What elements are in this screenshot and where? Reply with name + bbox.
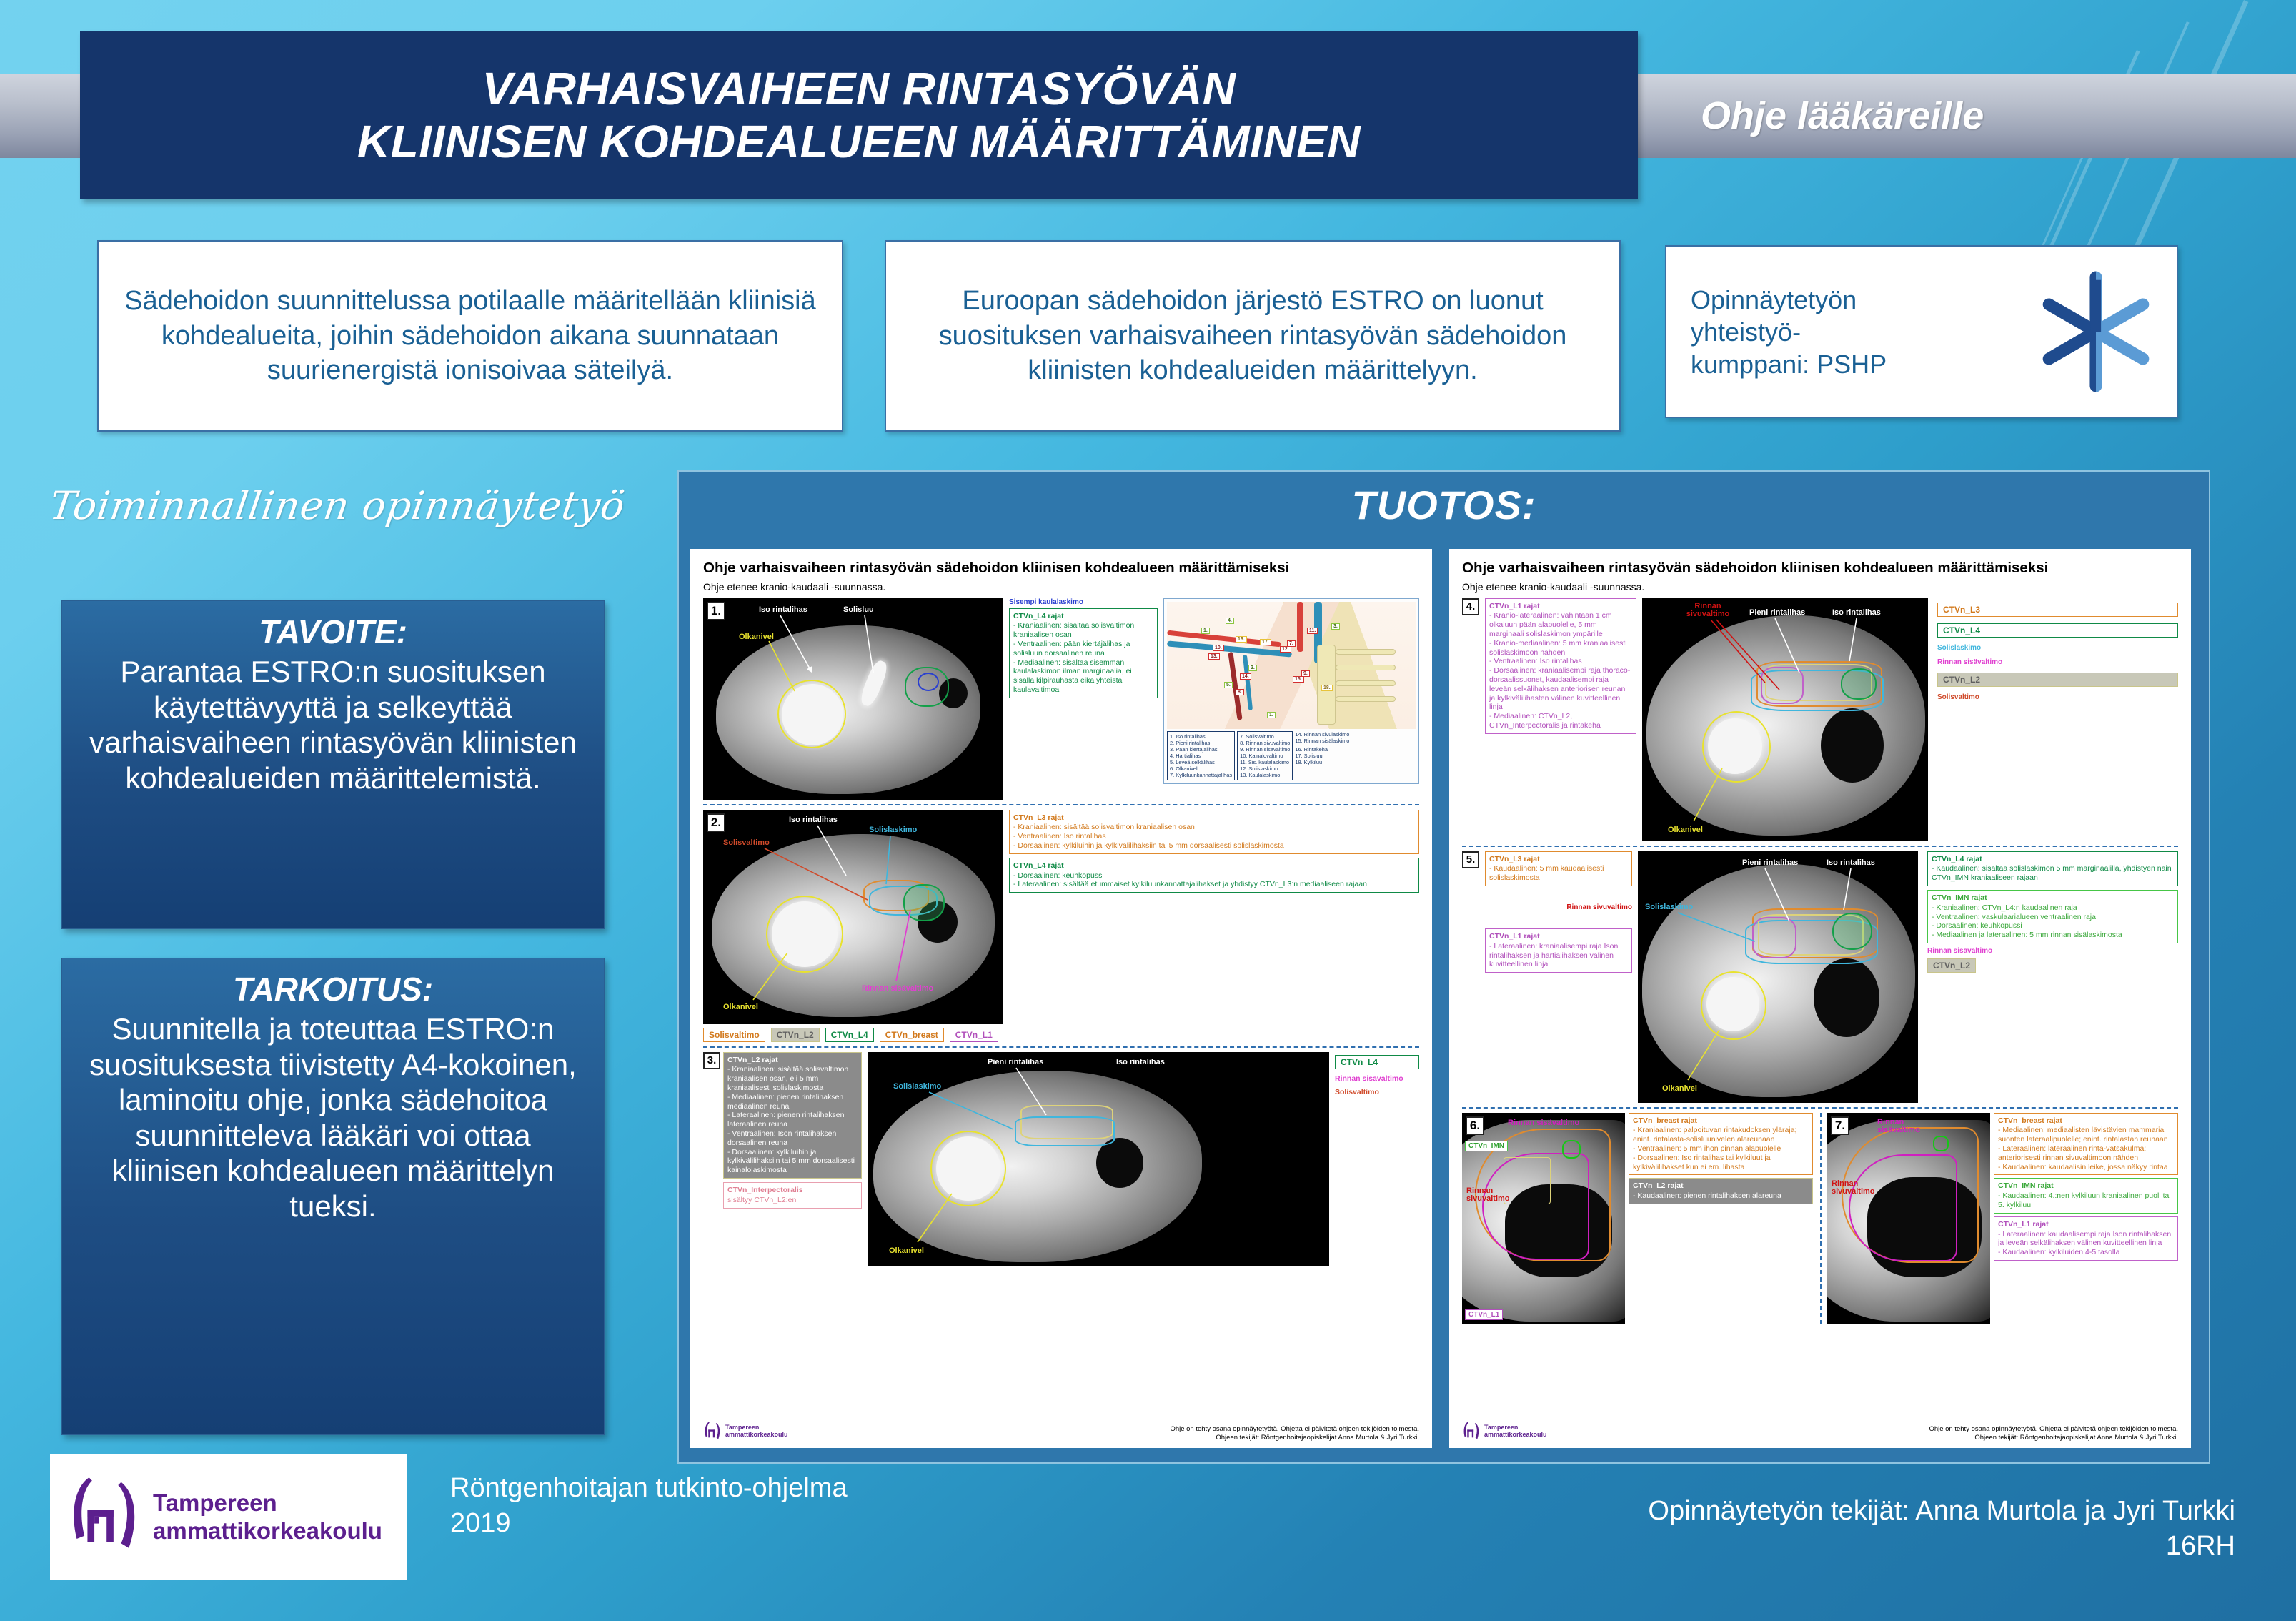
anatomy-illustration: 4. 1. 16. 17. 7. 11. 3. 10. 13. 12. 2. 1… — [1167, 602, 1416, 729]
guide-divider — [1462, 1107, 2178, 1109]
callout-title: CTVn_L1 rajat — [1998, 1220, 2174, 1229]
callout-line: - Ventraalinen: 5 mm ihon pinnan alapuol… — [1633, 1144, 1781, 1153]
callout-line: - Kraniaalinen: palpoituvan rintakudokse… — [1633, 1126, 1796, 1144]
callout-title: CTVn_breast rajat — [1633, 1116, 1809, 1126]
guide-subtitle: Ohje etenee kranio-kaudaali -suunnassa. — [1462, 581, 2178, 593]
guide-footer-line-2: Ohjeen tekijät: Röntgenhoitajaopiskelija… — [1547, 1434, 2178, 1442]
panel-number-6: 6. — [1466, 1116, 1484, 1135]
ct-label: Pieni rintalihas — [1742, 858, 1798, 867]
poster-title-line-1: VARHAISVAIHEEN RINTASYÖVÄN — [482, 63, 1236, 116]
callout-ctvn-breast: CTVn_breast rajat - Kraniaalinen: palpoi… — [1629, 1113, 1813, 1176]
guide-footer: Tampereen ammattikorkeakoulu Ohje on teh… — [703, 1421, 1419, 1442]
ct-label: Olkanivel — [889, 1246, 924, 1255]
callout-ctvn-l2: CTVn_L2 rajat - Kraniaalinen: sisältää s… — [723, 1052, 862, 1179]
callout-line: - Kranio-mediaalinen: 5 mm kraniaalisest… — [1489, 639, 1627, 657]
callout-title: CTVn_IMN rajat — [1998, 1181, 2174, 1191]
ct-label: Solislaskimo — [869, 826, 917, 834]
callout-line: - Dorsaalinen: keuhkopussi — [1932, 921, 2022, 930]
ct-label: Rinnan sivuvaltimo — [1832, 1180, 1862, 1196]
guide-page-right: Ohje varhaisvaiheen rintasyövän sädehoid… — [1449, 549, 2191, 1448]
ct-scan-panel-6: 6. Rinnan sisävaltimo Rinnan sivuvaltimo… — [1462, 1113, 1625, 1324]
panel-tarkoitus-heading: TARKOITUS: — [79, 970, 587, 1008]
legend-item: 9. Rinnan sisävaltimo — [1240, 746, 1290, 753]
callout-line: - Kaudaalinen: 5 mm kaudaalisesti solisl… — [1489, 864, 1604, 882]
legend-column-4: 16. Rintakehä 17. Solisluu 18. Kylkiluu — [1295, 746, 1349, 765]
callout-ctvn-l3: CTVn_L3 rajat - Kraniaalinen: sisältää s… — [1009, 810, 1419, 854]
tamk-word-line-1: Tampereen — [153, 1489, 382, 1517]
callout-line: - Kaudaalinen: 4.:nen kylkiluun kraniaal… — [1998, 1191, 2171, 1209]
callout-title: CTVn_breast rajat — [1998, 1116, 2174, 1126]
callout-ctvn-imn: CTVn_IMN rajat - Kraniaalinen: CTVn_L4:n… — [1927, 890, 2178, 943]
callout-line: - Ventraalinen: vaskulaarialueen ventraa… — [1932, 913, 2096, 921]
ct-label: Rinnan sisävaltimo — [862, 984, 933, 993]
tag-solisvaltimo: Solisvaltimo — [1335, 1088, 1419, 1096]
callout-line: - Lateraalinen: kraniaalisempi raja Ison… — [1489, 942, 1618, 969]
ct-scan-panel-3: Pieni rintalihas Iso rintalihas Solislas… — [868, 1052, 1329, 1266]
guide-page-left: Ohje varhaisvaiheen rintasyövän sädehoid… — [690, 549, 1432, 1448]
ct-scan-panel-5: Pieni rintalihas Iso rintalihas Solislas… — [1638, 851, 1918, 1103]
tag-ctvn-l4: CTVn_L4 — [825, 1028, 874, 1042]
legend-item: 1. Iso rintalihas — [1170, 733, 1232, 740]
callout-ctvn-l1: CTVn_L1 rajat - Lateraalinen: kraniaalis… — [1485, 928, 1632, 973]
tuotos-title: TUOTOS: — [679, 482, 2209, 528]
callout-ctvn-imn: CTVn_IMN rajat - Kaudaalinen: 4.:nen kyl… — [1994, 1178, 2178, 1213]
guide-footer-line-1: Ohje on tehty osana opinnäytetyötä. Ohje… — [1547, 1425, 2178, 1434]
legend-item: 8. Rinnan sivuvaltimo — [1240, 740, 1290, 746]
panel-tarkoitus-body: Suunnitella ja toteuttaa ESTRO:n suositu… — [79, 1011, 587, 1224]
info-box-radiotherapy: Sädehoidon suunnittelussa potilaalle mää… — [97, 240, 843, 432]
info-box-text: Euroopan sädehoidon järjestö ESTRO on lu… — [899, 284, 1606, 388]
pshp-star-of-life-logo — [2028, 264, 2164, 400]
section-title-functional-thesis: Toiminnallinen opinnäytetyö — [47, 483, 640, 528]
poster-title-line-2: KLIINISEN KOHDEALUEEN MÄÄRITTÄMINEN — [357, 116, 1361, 169]
ct-label: Iso rintalihas — [759, 605, 807, 614]
ct-label: Rinnan sisävaltimo — [1877, 1119, 1927, 1135]
footer-left: Röntgenhoitajan tutkinto-ohjelma 2019 — [450, 1471, 848, 1542]
guide-title: Ohje varhaisvaiheen rintasyövän sädehoid… — [703, 560, 1419, 577]
ct-label-solislaskimo: Solislaskimo — [1937, 644, 2178, 652]
legend-item: 6. Olkanivel — [1170, 765, 1232, 772]
callout-title: CTVn_L3 rajat — [1013, 813, 1415, 823]
callout-line: sisältyy CTVn_L2:en — [727, 1196, 796, 1204]
callout-line: - Dorsaalinen: Iso rintalihas tai kylkil… — [1633, 1154, 1771, 1171]
legend-item: 13. Kaulalaskimo — [1240, 772, 1290, 778]
panel-tavoite: TAVOITE: Parantaa ESTRO:n suosituksen kä… — [61, 600, 605, 929]
tag-ctvn-l2: CTVn_L2 — [1937, 673, 2178, 687]
guide-divider — [1462, 846, 2178, 847]
callout-ctvn-l3: CTVn_L3 rajat - Kaudaalinen: 5 mm kaudaa… — [1485, 851, 1632, 886]
legend-column-1: 1. Iso rintalihas 2. Pieni rintalihas 3.… — [1167, 731, 1235, 780]
callout-title: CTVn_L2 rajat — [1633, 1181, 1809, 1191]
tamk-mark-icon — [66, 1474, 143, 1560]
callout-line: - Kaudaalinen: kaudaalisin leike, jossa … — [1998, 1163, 2168, 1171]
callout-line: - Mediaalinen: sisältää sisemmän kaulala… — [1013, 658, 1132, 694]
legend-item: 2. Pieni rintalihas — [1170, 740, 1232, 746]
info-box-partner: Opinnäytetyönyhteistyö-kumppani: PSHP — [1665, 245, 2178, 418]
ct-label: Iso rintalihas — [1116, 1058, 1165, 1066]
callout-line: - Kraniaalinen: sisältää solisvaltimon k… — [1013, 823, 1195, 831]
callout-line: - Kaudaalinen: kylkiluiden 4-5 tasolla — [1998, 1248, 2119, 1256]
guide-divider — [703, 1046, 1419, 1048]
ct-label: Pieni rintalihas — [988, 1058, 1043, 1066]
legend-item: 16. Rintakehä — [1295, 746, 1349, 753]
callout-title: CTVn_L3 rajat — [1489, 855, 1628, 864]
callout-line: - Kranio-lateraalinen: vähintään 1 cm ol… — [1489, 611, 1612, 638]
callout-line: - Kraniaalinen: sisältää solisvaltimon k… — [727, 1065, 848, 1092]
ct-label: Solislaskimo — [1645, 903, 1693, 911]
callout-line: - Ventraalinen: Iso rintalihas — [1489, 657, 1582, 665]
callout-ctvn-breast: CTVn_breast rajat - Mediaalinen: mediaal… — [1994, 1113, 2178, 1176]
callout-line: - Ventraalinen: Iso rintalihas — [1013, 832, 1106, 841]
callout-line: - Mediaalinen: pienen rintalihaksen medi… — [727, 1093, 843, 1111]
legend-item: 11. Sis. kaulalaskimo — [1240, 759, 1290, 765]
callout-ctvn-l2: CTVn_L2 rajat - Kaudaalinen: pienen rint… — [1629, 1178, 1813, 1204]
guide-footer-text: Ohje on tehty osana opinnäytetyötä. Ohje… — [1547, 1425, 2178, 1442]
legend-item: 4. Hartialihas — [1170, 753, 1232, 759]
callout-line: - Dorsaalinen: kraniaalisempi raja thora… — [1489, 666, 1630, 711]
callout-line: - Lateraalinen: pienen rintalihaksen lat… — [727, 1111, 844, 1129]
legend-item: 5. Leveä selkälihas — [1170, 759, 1232, 765]
tag-ctvn-l1: CTVn_L1 — [950, 1028, 998, 1042]
callout-title: CTVn_Interpectoralis — [727, 1186, 858, 1195]
poster-title-block: VARHAISVAIHEEN RINTASYÖVÄN KLIINISEN KOH… — [80, 31, 1638, 199]
callout-ctvn-l1: CTVn_L1 rajat - Kranio-lateraalinen: väh… — [1485, 598, 1636, 734]
tag-ctvn-l3: CTVn_L3 — [1937, 603, 2178, 617]
partner-text: Opinnäytetyönyhteistyö-kumppani: PSHP — [1691, 284, 2028, 380]
callout-line: - Mediaalinen: CTVn_L2, CTVn_Interpector… — [1489, 712, 1601, 730]
tag-rinnan-sisavaltimo: Rinnan sisävaltimo — [1335, 1074, 1419, 1083]
callout-line: - Ventraalinen: Ison rintalihaksen dorsa… — [727, 1129, 836, 1147]
footer-year: 2019 — [450, 1506, 848, 1541]
callout-line: - Kraniaalinen: sisältää solisvaltimon k… — [1013, 621, 1134, 639]
tamk-word-line-2: ammattikorkeakoulu — [725, 1432, 788, 1439]
guide-footer: Tampereen ammattikorkeakoulu Ohje on teh… — [1462, 1421, 2178, 1442]
info-box-text: Sädehoidon suunnittelussa potilaalle mää… — [111, 284, 829, 388]
panel-number-5: 5. — [1462, 851, 1479, 868]
legend-item: 7. Kylkiluunkannattajalihas — [1170, 772, 1232, 778]
panel-tarkoitus: TARKOITUS: Suunnitella ja toteuttaa ESTR… — [61, 958, 605, 1435]
legend-item: 17. Solisluu — [1295, 753, 1349, 759]
ct-label: Olkanivel — [1668, 826, 1703, 834]
callout-line: - Kraniaalinen: CTVn_L4:n kaudaalinen ra… — [1932, 903, 2077, 912]
ct-label: Olkanivel — [723, 1003, 758, 1011]
guide-footer-line-1: Ohje on tehty osana opinnäytetyötä. Ohje… — [788, 1425, 1419, 1434]
guide-footer-line-2: Ohjeen tekijät: Röntgenhoitajaopiskelija… — [788, 1434, 1419, 1442]
callout-line: - Dorsaalinen: kylkiluihin ja kylkivälil… — [1013, 841, 1284, 850]
callout-line: - Lateraalinen: kaudaalisempi raja Ison … — [1998, 1230, 2171, 1248]
ct-scan-panel-2: 2. Iso rintalihas Solislaskimo Solisvalt… — [703, 810, 1003, 1024]
tag-solisvaltimo: Solisvaltimo — [703, 1028, 765, 1042]
callout-ctvn-l4: CTVn_L4 rajat - Kaudaalinen: sisältää so… — [1927, 851, 2178, 886]
callout-line: - Mediaalinen ja lateraalinen: 5 mm rinn… — [1932, 931, 2122, 939]
callout-line: - Lateraalinen: lateraalinen rinta-vatsa… — [1998, 1144, 2146, 1162]
callout-line: - Dorsaalinen: keuhkopussi — [1013, 871, 1104, 880]
tamk-mark-icon — [1462, 1421, 1481, 1442]
guide-title: Ohje varhaisvaiheen rintasyövän sädehoid… — [1462, 560, 2178, 577]
ct-label: Rinnan sisävaltimo — [1508, 1119, 1579, 1127]
ct-scan-panel-1: 1. Iso rintalihas Solisluu Olkanivel — [703, 598, 1003, 800]
poster-root: VARHAISVAIHEEN RINTASYÖVÄN KLIINISEN KOH… — [0, 0, 2296, 1621]
ct-label: Rinnan sivuvaltimo — [1466, 1187, 1496, 1204]
ct-label-rinnan-sisavaltimo: Rinnan sisävaltimo — [1927, 947, 2178, 955]
tamk-mark-icon — [703, 1421, 722, 1442]
guide-tamk-logo: Tampereen ammattikorkeakoulu — [1462, 1421, 1547, 1442]
callout-line: - Dorsaalinen: kylkiluihin ja kylkivälil… — [727, 1148, 855, 1175]
ct-label: Iso rintalihas — [1832, 608, 1881, 617]
callout-title: CTVn_L4 rajat — [1013, 612, 1153, 621]
ct-label-rinnan-sisavaltimo: Rinnan sisävaltimo — [1937, 658, 2178, 666]
callout-title: CTVn_L1 rajat — [1489, 932, 1628, 941]
legend-item: 12. Solislaskimo — [1240, 765, 1290, 772]
ct-label: Solislaskimo — [893, 1082, 941, 1091]
footer-group: 16RH — [1648, 1529, 2235, 1564]
legend-item: 10. Kainalovaltimo — [1240, 753, 1290, 759]
tag-ctvn-l1: CTVn_L1 — [1465, 1309, 1503, 1320]
guide-tamk-logo: Tampereen ammattikorkeakoulu — [703, 1421, 788, 1442]
callout-line: - Ventraalinen: pään kiertäjälihas ja so… — [1013, 640, 1130, 658]
callout-title: CTVn_L4 rajat — [1932, 855, 2174, 864]
panel-tavoite-heading: TAVOITE: — [79, 613, 587, 651]
ct-scan-panel-7: 7. Rinnan sisävaltimo Rinnan sivuvaltimo — [1827, 1113, 1990, 1324]
tamk-word-line-2: ammattikorkeakoulu — [153, 1517, 382, 1545]
header-subtitle: Ohje lääkäreille — [1701, 74, 2244, 158]
ct-scan-panel-4: Rinnan sivuvaltimo Pieni rintalihas Iso … — [1642, 598, 1928, 841]
callout-ctvn-l1: CTVn_L1 rajat - Lateraalinen: kaudaalise… — [1994, 1216, 2178, 1261]
tuotos-section: TUOTOS: Ohje varhaisvaiheen rintasyövän … — [677, 470, 2210, 1464]
tag-ctvn-l4: CTVn_L4 — [1937, 623, 2178, 638]
ct-label-solisvaltimo: Solisvaltimo — [1937, 693, 2178, 701]
tamk-wordmark: Tampereen ammattikorkeakoulu — [725, 1424, 788, 1439]
legend-item: 18. Kylkiluu — [1295, 759, 1349, 765]
legend-item: 14. Rinnan sivulaskimo — [1295, 731, 1349, 738]
legend-item: 3. Pään kiertäjälihas — [1170, 746, 1232, 753]
guide-footer-text: Ohje on tehty osana opinnäytetyötä. Ohje… — [788, 1425, 1419, 1442]
callout-title: CTVn_L2 rajat — [727, 1056, 858, 1065]
footer-right: Opinnäytetyön tekijät: Anna Murtola ja J… — [1648, 1494, 2235, 1565]
tamk-word-line-2: ammattikorkeakoulu — [1484, 1432, 1547, 1439]
legend-column-3: 14. Rinnan sivulaskimo 15. Rinnan sisäla… — [1295, 731, 1349, 744]
tamk-wordmark: Tampereen ammattikorkeakoulu — [1484, 1424, 1547, 1439]
legend-item: 7. Solisvaltimo — [1240, 733, 1290, 740]
tamk-wordmark: Tampereen ammattikorkeakoulu — [153, 1489, 382, 1545]
legend-column-2: 7. Solisvaltimo 8. Rinnan sivuvaltimo 9.… — [1237, 731, 1293, 780]
tag-ctvn-imn: CTVn_IMN — [1465, 1141, 1508, 1151]
ct-label: Iso rintalihas — [789, 816, 838, 824]
callout-ctvn-l4: CTVn_L4 rajat - Dorsaalinen: keuhkopussi… — [1009, 858, 1419, 893]
ct-label-rinnan-sivuvaltimo: Rinnan sivuvaltimo — [1485, 903, 1632, 911]
callout-line: - Lateraalinen: sisältää etummaiset kylk… — [1013, 880, 1367, 888]
anatomy-legend: 1. Iso rintalihas 2. Pieni rintalihas 3.… — [1167, 731, 1416, 780]
panel-number-7: 7. — [1831, 1116, 1849, 1135]
guide-subtitle: Ohje etenee kranio-kaudaali -suunnassa. — [703, 581, 1419, 593]
tag-ctvn-l2: CTVn_L2 — [771, 1028, 820, 1042]
ct-label: Iso rintalihas — [1827, 858, 1875, 867]
footer-program: Röntgenhoitajan tutkinto-ohjelma — [450, 1471, 848, 1506]
tag-ctvn-l4: CTVn_L4 — [1335, 1055, 1419, 1069]
callout-title: CTVn_L1 rajat — [1489, 602, 1632, 611]
guide-divider — [703, 804, 1419, 805]
panel-number-3: 3. — [703, 1052, 720, 1069]
info-box-estro: Euroopan sädehoidon järjestö ESTRO on lu… — [885, 240, 1621, 432]
tag-ctvn-breast: CTVn_breast — [880, 1028, 944, 1042]
panel-number-2: 2. — [707, 813, 725, 832]
footer-authors: Opinnäytetyön tekijät: Anna Murtola ja J… — [1648, 1494, 2235, 1529]
ct-label: Solisluu — [843, 605, 874, 614]
callout-ctvn-interpectoralis: CTVn_Interpectoralis sisältyy CTVn_L2:en — [723, 1182, 862, 1209]
anatomy-diagram: 4. 1. 16. 17. 7. 11. 3. 10. 13. 12. 2. 1… — [1163, 598, 1419, 784]
ct-label: Solisvaltimo — [723, 838, 770, 847]
ct-label-internal-jugular: Sisempi kaulalaskimo — [1009, 598, 1158, 606]
legend-item: 15. Rinnan sisälaskimo — [1295, 738, 1349, 744]
ct-label: Olkanivel — [1662, 1084, 1697, 1093]
callout-title: CTVn_L4 rajat — [1013, 861, 1415, 871]
callout-line: - Kaudaalinen: pienen rintalihaksen alar… — [1633, 1191, 1781, 1200]
panel-tavoite-body: Parantaa ESTRO:n suosituksen käytettävyy… — [79, 654, 587, 795]
ct-label: Pieni rintalihas — [1749, 608, 1805, 617]
panel-number-4: 4. — [1462, 598, 1479, 615]
tag-ctvn-l2: CTVn_L2 — [1927, 958, 1976, 973]
callout-line: - Mediaalinen: mediaalisten lävistävien … — [1998, 1126, 2168, 1144]
callout-line: - Kaudaalinen: sisältää solislaskimon 5 … — [1932, 864, 2172, 882]
tamk-logo: Tampereen ammattikorkeakoulu — [50, 1454, 407, 1580]
callout-ctvn-l4: CTVn_L4 rajat - Kraniaalinen: sisältää s… — [1009, 608, 1158, 698]
panel-number-1: 1. — [707, 602, 725, 620]
ct-label: Rinnan sivuvaltimo — [1682, 603, 1734, 619]
callout-title: CTVn_IMN rajat — [1932, 893, 2174, 903]
ct-label: Olkanivel — [739, 633, 774, 641]
